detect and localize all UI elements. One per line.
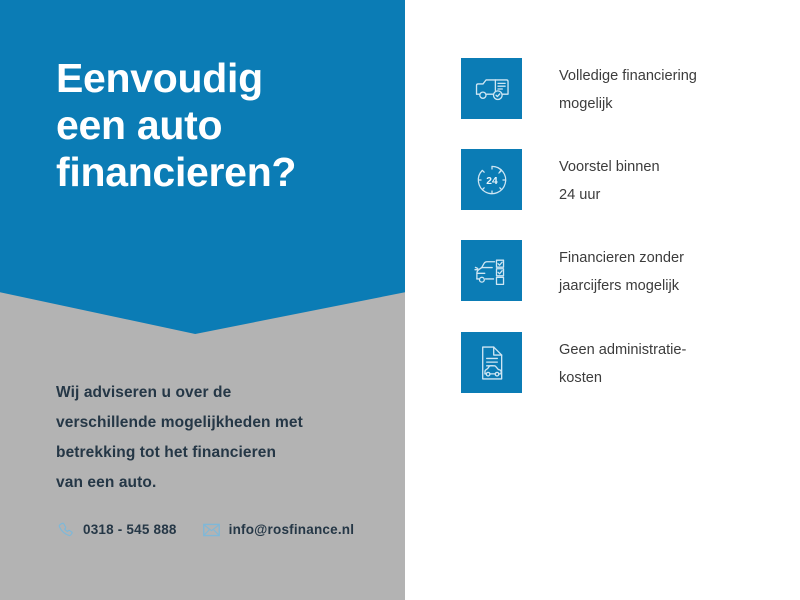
contact-phone[interactable]: 0318 - 545 888 [57, 521, 177, 538]
contact-row: 0318 - 545 888 info@rosfinance.nl [57, 521, 354, 538]
feature-label: Geen administratie- kosten [559, 332, 686, 392]
promo-poster: Eenvoudig een auto financieren? Wij advi… [0, 0, 800, 600]
phone-number: 0318 - 545 888 [83, 522, 177, 537]
feature-label: Financieren zonder jaarcijfers mogelijk [559, 240, 684, 300]
headline-line-3: financieren? [56, 149, 386, 196]
hero-blue-panel: Eenvoudig een auto financieren? [0, 0, 405, 334]
clock-24-hours-icon: 24 [474, 162, 510, 198]
right-column: Volledige financiering mogelijk 24 [405, 0, 800, 600]
feature-icon-tile [461, 58, 522, 119]
feature-line-1: Volledige financiering [559, 62, 697, 90]
contact-email[interactable]: info@rosfinance.nl [203, 521, 355, 538]
phone-icon [57, 521, 74, 538]
feature-item-full-financing: Volledige financiering mogelijk [461, 58, 697, 119]
intro-line-1: Wij adviseren u over de [56, 378, 376, 408]
headline-line-2: een auto [56, 102, 386, 149]
intro-line-4: van een auto. [56, 468, 376, 498]
feature-icon-tile: 24 [461, 149, 522, 210]
left-column: Eenvoudig een auto financieren? Wij advi… [0, 0, 405, 600]
feature-icon-tile [461, 240, 522, 301]
page-title: Eenvoudig een auto financieren? [56, 55, 386, 196]
feature-line-1: Financieren zonder [559, 244, 684, 272]
intro-line-2: verschillende mogelijkheden met [56, 408, 376, 438]
headline-line-1: Eenvoudig [56, 55, 386, 102]
envelope-icon [203, 521, 220, 538]
email-address: info@rosfinance.nl [229, 522, 355, 537]
feature-line-1: Voorstel binnen [559, 153, 660, 181]
feature-item-no-annual-figures: Financieren zonder jaarcijfers mogelijk [461, 240, 684, 301]
feature-item-24h-proposal: 24 Voorstel binnen 24 uur [461, 149, 660, 210]
clock-badge-text: 24 [486, 175, 498, 186]
feature-line-2: kosten [559, 364, 686, 392]
feature-label: Voorstel binnen 24 uur [559, 149, 660, 209]
van-document-check-icon [473, 74, 511, 104]
feature-line-2: mogelijk [559, 90, 697, 118]
feature-label: Volledige financiering mogelijk [559, 58, 697, 118]
feature-item-no-admin-costs: Geen administratie- kosten [461, 332, 686, 393]
intro-paragraph: Wij adviseren u over de verschillende mo… [56, 378, 376, 498]
feature-line-1: Geen administratie- [559, 336, 686, 364]
document-car-icon [475, 345, 509, 381]
car-checklist-icon [473, 255, 510, 287]
feature-icon-tile [461, 332, 522, 393]
feature-line-2: jaarcijfers mogelijk [559, 272, 684, 300]
feature-line-2: 24 uur [559, 181, 660, 209]
intro-line-3: betrekking tot het financieren [56, 438, 376, 468]
